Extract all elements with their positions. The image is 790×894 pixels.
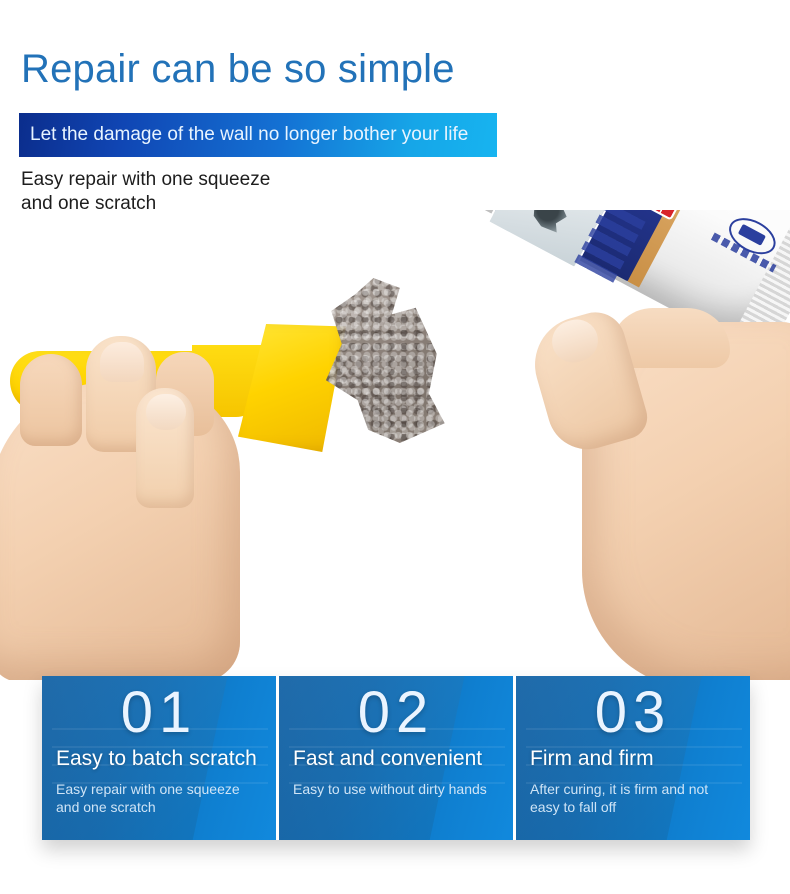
product-photo: WALL MENDING OINTMENT [0,210,790,680]
product-promo-page: Repair can be so simple Let the damage o… [0,0,790,894]
feature-card-02[interactable]: 02 Fast and convenient Easy to use witho… [276,676,513,840]
scraper-blade [238,324,346,452]
feature-card-title: Easy to batch scratch [56,746,266,772]
tagline-banner: Let the damage of the wall no longer bot… [19,113,497,157]
feature-card-03[interactable]: 03 Firm and firm After curing, it is fir… [513,676,750,840]
left-hand [0,382,240,680]
feature-card-title: Firm and firm [530,746,740,772]
right-hand [582,322,790,680]
page-headline: Repair can be so simple [21,43,455,95]
feature-cards: 01 Easy to batch scratch Easy repair wit… [42,676,750,840]
feature-card-01[interactable]: 01 Easy to batch scratch Easy repair wit… [42,676,276,840]
left-hand-finger-1 [20,354,82,446]
feature-card-number: 01 [42,682,276,744]
subheadline: Easy repair with one squeeze and one scr… [21,168,270,216]
feature-card-description: Easy to use without dirty hands [293,780,503,798]
left-hand-thumbnail [146,394,186,430]
feature-card-description: After curing, it is firm and not easy to… [530,780,740,816]
subheadline-line-1: Easy repair with one squeeze [21,168,270,192]
tagline-text: Let the damage of the wall no longer bot… [30,123,468,147]
feature-card-title: Fast and convenient [293,746,503,772]
feature-card-number: 03 [516,682,750,744]
wall-hole-icon [525,210,572,235]
feature-card-number: 02 [279,682,513,744]
left-hand-fingernail [100,342,144,382]
feature-card-description: Easy repair with one squeeze and one scr… [56,780,266,816]
